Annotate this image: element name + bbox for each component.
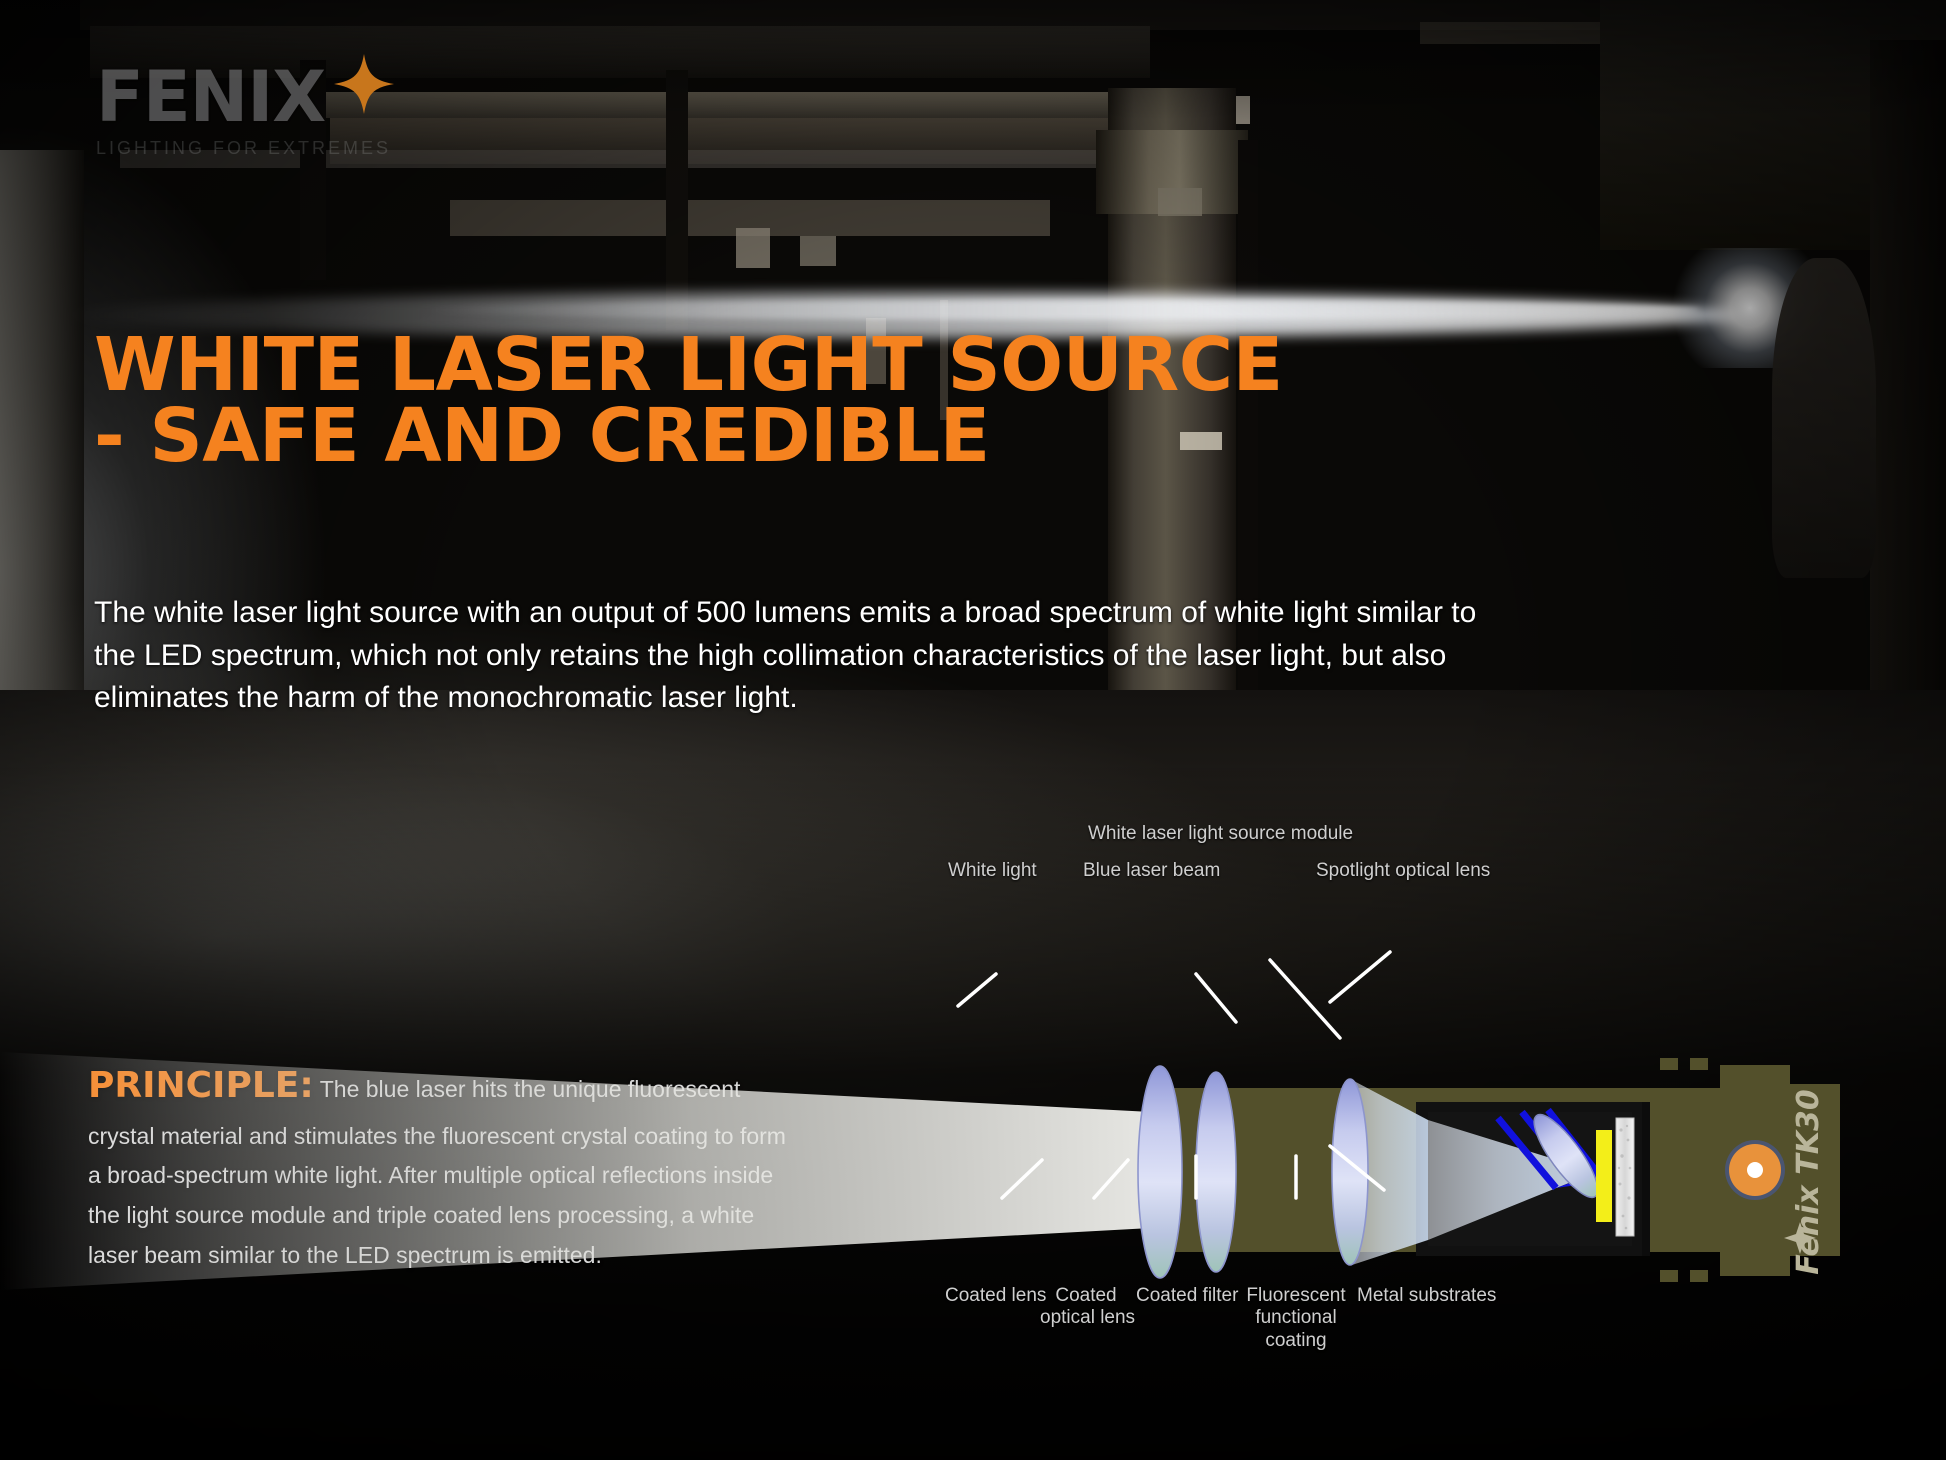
leader-coated-optical (1094, 1160, 1128, 1198)
ceiling-panel-b (800, 236, 836, 266)
label-white-laser-light-source-module: White laser light source module (1088, 823, 1353, 845)
ceiling-panel-a (736, 228, 770, 268)
leader-white-light (958, 974, 996, 1006)
label-fluorescent-functional-coating: Fluorescent functional coating (1240, 1285, 1352, 1352)
headline-line-2: - SAFE AND CREDIBLE (94, 401, 1394, 472)
logo-wordmark: FENIX (96, 62, 456, 132)
leader-metal-substrate (1330, 1146, 1384, 1190)
fenix-logo: FENIX LIGHTING FOR EXTREMES (96, 62, 456, 159)
star-icon (334, 54, 394, 114)
label-white-light: White light (948, 860, 1037, 882)
label-coated-optical-lens: Coated optical lens (1040, 1285, 1132, 1330)
pillar-box (1158, 188, 1202, 216)
intro-paragraph: The white laser light source with an out… (94, 592, 1484, 720)
principle-diagram: Fenix TK30 White light Blue laser beam W… (0, 960, 1946, 1430)
label-coated-filter: Coated filter (1136, 1285, 1238, 1307)
logo-tagline: LIGHTING FOR EXTREMES (96, 138, 456, 159)
laser-beam-core (420, 300, 1700, 320)
leader-module (1270, 960, 1340, 1038)
person-silhouette (1772, 258, 1876, 578)
label-metal-substrates: Metal substrates (1357, 1285, 1496, 1307)
leader-blue-laser (1196, 974, 1236, 1022)
label-spotlight-optical-lens: Spotlight optical lens (1316, 860, 1490, 882)
leader-coated-lens (1002, 1160, 1042, 1198)
leader-spotlight-lens (1330, 952, 1390, 1002)
page-title: WHITE LASER LIGHT SOURCE - SAFE AND CRED… (94, 330, 1394, 472)
label-coated-lens: Coated lens (945, 1285, 1046, 1307)
label-blue-laser-beam: Blue laser beam (1083, 860, 1220, 882)
